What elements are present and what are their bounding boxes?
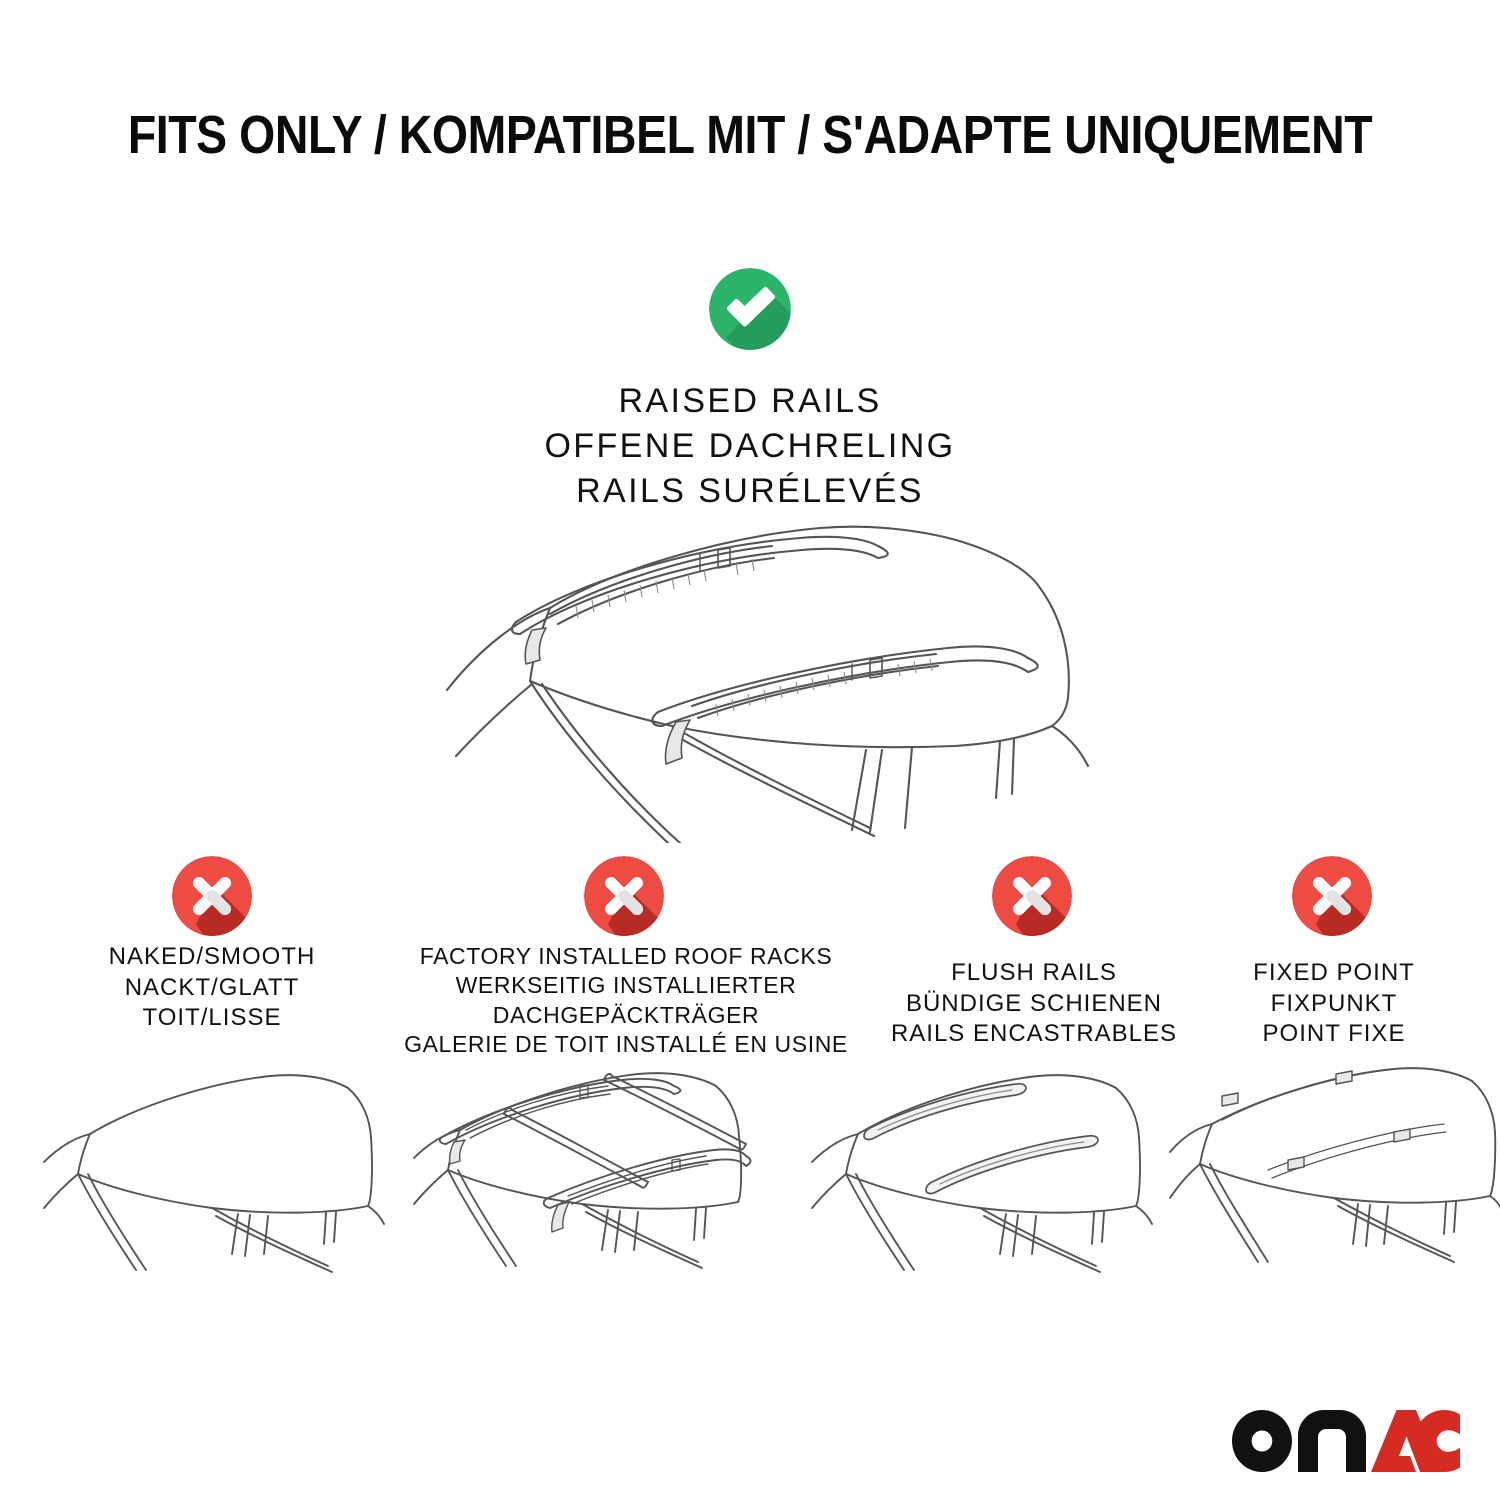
caption-line: TOIT/LISSE [42,1003,382,1034]
x-circle-icon [1292,856,1372,936]
car-roof-factory-roof-racks-illustration [408,1058,753,1283]
caption-line: BÜNDIGE SCHIENEN [862,989,1206,1020]
page-title: FITS ONLY / KOMPATIBEL MIT / S'ADAPTE UN… [105,104,1395,166]
caption-line: NACKT/GLATT [42,973,382,1004]
caption-line: FIXPUNKT [1218,989,1450,1020]
fitment-compatibility-infographic: FITS ONLY / KOMPATIBEL MIT / S'ADAPTE UN… [0,0,1500,1500]
caption-line: RAILS ENCASTRABLES [862,1019,1206,1050]
compatible-caption: RAISED RAILS OFFENE DACHRELING RAILS SUR… [0,379,1500,515]
caption-line: FLUSH RAILS [862,958,1206,989]
incompatible-caption-naked-smooth: NAKED/SMOOTH NACKT/GLATT TOIT/LISSE [42,942,382,1034]
compatible-caption-line-2: OFFENE DACHRELING [0,424,1500,469]
caption-line: NAKED/SMOOTH [42,942,382,973]
incompatible-caption-factory-roof-racks: FACTORY INSTALLED ROOF RACKS WERKSEITIG … [396,942,856,1060]
incompatible-caption-flush-rails: FLUSH RAILS BÜNDIGE SCHIENEN RAILS ENCAS… [862,958,1206,1050]
check-circle-icon [709,268,791,350]
car-roof-fixed-point-illustration [1168,1058,1500,1283]
caption-line: FIXED POINT [1218,958,1450,989]
x-circle-icon [584,856,664,936]
caption-line: GALERIE DE TOIT INSTALLÉ EN USINE [396,1030,856,1059]
x-circle-icon [172,856,252,936]
caption-line: POINT FIXE [1218,1019,1450,1050]
omac-logo [1232,1410,1460,1472]
car-roof-flush-rails-illustration [808,1058,1153,1283]
caption-line: DACHGEPÄCKTRÄGER [396,1001,856,1030]
compatible-caption-line-1: RAISED RAILS [0,379,1500,424]
car-roof-naked-smooth-illustration [40,1058,385,1283]
caption-line: WERKSEITIG INSTALLIERTER [396,971,856,1000]
caption-line: FACTORY INSTALLED ROOF RACKS [396,942,856,971]
car-roof-raised-rails-illustration [400,498,1100,843]
x-circle-icon [992,856,1072,936]
incompatible-caption-fixed-point: FIXED POINT FIXPUNKT POINT FIXE [1218,958,1450,1050]
